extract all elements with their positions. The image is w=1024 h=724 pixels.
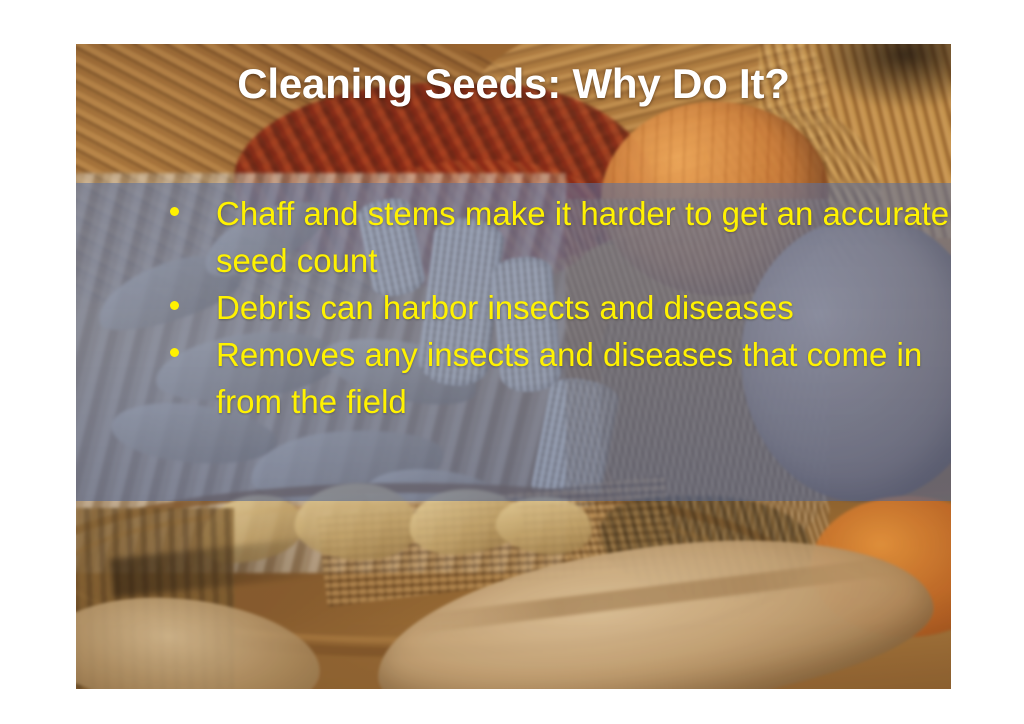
slide-page: Cleaning Seeds: Why Do It? Chaff and ste… (0, 0, 1024, 724)
bullet-dot-icon (170, 348, 179, 357)
bullet-list-item: Chaff and stems make it harder to get an… (84, 190, 951, 284)
bullet-list-item: Removes any insects and diseases that co… (84, 331, 951, 425)
bullet-list: Chaff and stems make it harder to get an… (84, 190, 951, 425)
bullet-dot-icon (170, 207, 179, 216)
bullet-text: Debris can harbor insects and diseases (216, 289, 794, 326)
bullet-text: Chaff and stems make it harder to get an… (216, 195, 949, 279)
slide-background-photo: Cleaning Seeds: Why Do It? Chaff and ste… (76, 44, 951, 689)
slide-title: Cleaning Seeds: Why Do It? (76, 58, 951, 110)
bullet-dot-icon (170, 301, 179, 310)
bullet-list-item: Debris can harbor insects and diseases (84, 284, 951, 331)
bullet-text: Removes any insects and diseases that co… (216, 336, 922, 420)
